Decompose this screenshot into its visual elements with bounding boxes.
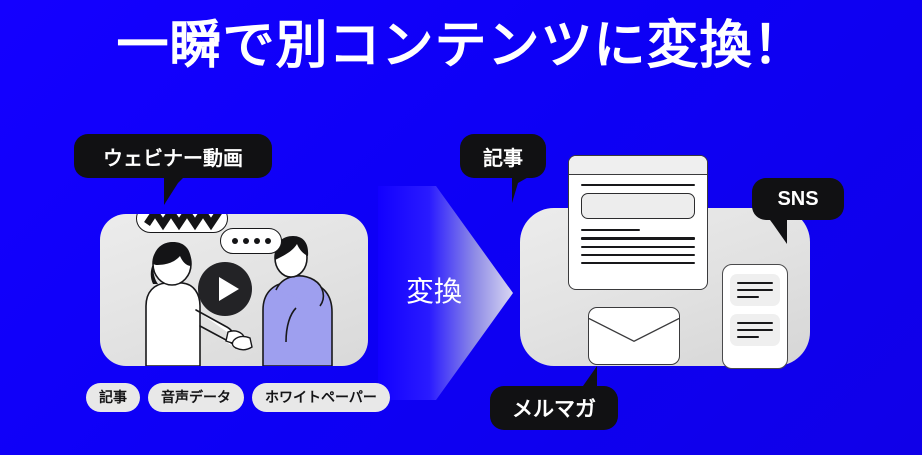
sns-bubble-tail [767,216,787,244]
document-line [581,229,640,231]
document-line [581,184,695,186]
document-body [569,175,707,264]
feed-post [730,314,780,346]
article-bubble-tail [512,175,532,203]
label-sns: SNS [752,178,844,220]
dot [265,238,271,244]
zigzag-speech-bubble-icon [136,214,228,233]
feed-line [737,296,759,298]
feed-line [737,336,759,338]
pill-article[interactable]: 記事 [86,383,140,412]
document-line [581,262,695,264]
pill-audio-data[interactable]: 音声データ [148,383,244,412]
label-mail-magazine: メルマガ [490,386,618,430]
document-title-bar [569,156,707,175]
play-triangle-icon [219,277,239,301]
document-line [581,246,695,248]
feed-line [737,282,773,284]
webinar-illustration [100,214,368,366]
source-format-pills: 記事 音声データ ホワイトペーパー [86,383,390,412]
feed-line [737,329,773,331]
envelope-icon [588,307,680,365]
document-window-icon [568,155,708,290]
pill-white-paper[interactable]: ホワイトペーパー [252,383,390,412]
webinar-video-card [100,214,368,366]
webinar-bubble-tail [164,175,186,205]
feed-line [737,289,773,291]
label-article: 記事 [460,134,546,178]
feed-line [737,322,773,324]
document-line [581,237,695,239]
promo-banner: 一瞬で別コンテンツに変換！ 変換 [0,0,922,455]
label-webinar-video: ウェビナー動画 [74,134,272,178]
arrow-label: 変換 [384,270,484,310]
dot [243,238,249,244]
page-title: 一瞬で別コンテンツに変換！ [0,14,922,78]
phone-feed-icon [722,264,788,369]
dot [254,238,260,244]
document-image-placeholder [581,193,695,219]
play-button-icon[interactable] [198,262,252,316]
document-line [581,254,695,256]
dots-speech-bubble-icon [220,228,282,254]
feed-post [730,274,780,306]
dot [232,238,238,244]
